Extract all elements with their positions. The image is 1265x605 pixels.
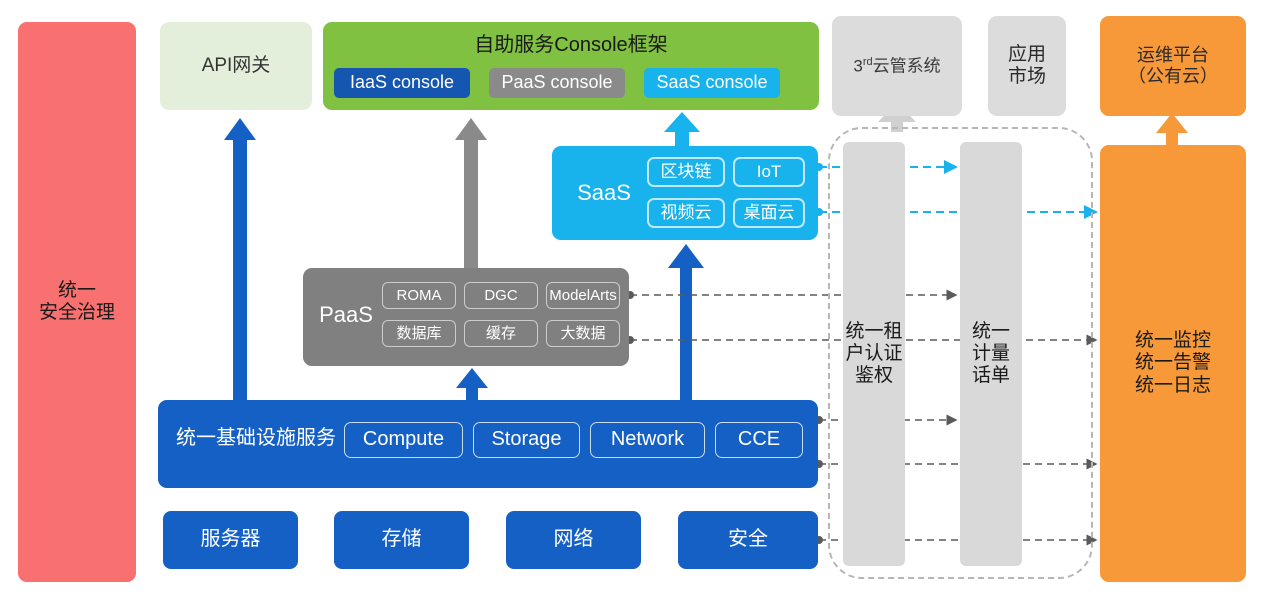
arrow-ops-panel-to-ops-platform bbox=[1156, 113, 1188, 145]
architecture-diagram: 统一 安全治理 API网关 自助服务Console框架 IaaS console… bbox=[0, 0, 1265, 605]
app-market-line1: 应用 bbox=[1008, 44, 1046, 66]
ops-platform-line2: （公有云） bbox=[1128, 66, 1218, 87]
infra-service-network[interactable]: Network bbox=[590, 422, 705, 458]
paas-service-modelarts[interactable]: ModelArts bbox=[546, 282, 620, 309]
cap-auth-line1: 统一租 bbox=[845, 321, 902, 343]
third-party-suffix: 云管系统 bbox=[873, 56, 941, 75]
cap-auth-line3: 鉴权 bbox=[845, 365, 902, 387]
security-label-line1: 统一 bbox=[39, 280, 115, 302]
infrastructure-label: 统一基础设施服务 bbox=[176, 427, 336, 451]
resource-network-box[interactable]: 网络 bbox=[506, 511, 641, 569]
cap-billing-line3: 话单 bbox=[972, 365, 1010, 387]
paas-console-chip[interactable]: PaaS console bbox=[489, 68, 625, 98]
self-service-console-framework: 自助服务Console框架 IaaS console PaaS console … bbox=[323, 22, 819, 110]
paas-service-cache[interactable]: 缓存 bbox=[464, 320, 538, 347]
arrow-infra-to-paas bbox=[456, 368, 488, 400]
arrow-paas-to-console bbox=[455, 118, 487, 268]
saas-layer-label: SaaS bbox=[566, 180, 642, 206]
unified-metering-billing-column: 统一 计量 话单 bbox=[960, 142, 1022, 566]
ops-panel-line1: 统一监控 bbox=[1135, 330, 1211, 352]
saas-console-chip[interactable]: SaaS console bbox=[644, 68, 780, 98]
saas-layer-box: SaaS 区块链 IoT 视频云 桌面云 bbox=[552, 146, 818, 240]
cap-billing-line2: 计量 bbox=[972, 343, 1010, 365]
third-party-superscript: rd bbox=[863, 56, 873, 68]
app-market-line2: 市场 bbox=[1008, 66, 1046, 88]
api-gateway-label: API网关 bbox=[202, 55, 271, 77]
arrow-infra-to-api-gateway bbox=[224, 118, 256, 400]
arrow-saas-to-console bbox=[664, 112, 700, 146]
unified-tenant-auth-column: 统一租 户认证 鉴权 bbox=[843, 142, 905, 566]
paas-service-database[interactable]: 数据库 bbox=[382, 320, 456, 347]
app-marketplace-box: 应用 市场 bbox=[988, 16, 1066, 116]
resource-storage-box[interactable]: 存储 bbox=[334, 511, 469, 569]
security-label-line2: 安全治理 bbox=[39, 302, 115, 324]
cap-billing-line1: 统一 bbox=[972, 321, 1010, 343]
ops-monitoring-panel: 统一监控 统一告警 统一日志 bbox=[1100, 145, 1246, 582]
arrow-infra-to-saas bbox=[668, 244, 704, 400]
iaas-console-chip[interactable]: IaaS console bbox=[334, 68, 470, 98]
ops-panel-line2: 统一告警 bbox=[1135, 352, 1211, 374]
ops-platform-line1: 运维平台 bbox=[1128, 45, 1218, 66]
paas-layer-box: PaaS ROMA DGC ModelArts 数据库 缓存 大数据 bbox=[303, 268, 629, 366]
paas-service-dgc[interactable]: DGC bbox=[464, 282, 538, 309]
paas-service-roma[interactable]: ROMA bbox=[382, 282, 456, 309]
unified-infrastructure-services-box: 统一基础设施服务 Compute Storage Network CCE bbox=[158, 400, 818, 488]
saas-service-desktop-cloud[interactable]: 桌面云 bbox=[733, 198, 805, 228]
paas-layer-label: PaaS bbox=[311, 302, 381, 328]
third-party-label: 3rd云管系统 bbox=[853, 56, 940, 77]
console-framework-title: 自助服务Console框架 bbox=[323, 34, 819, 58]
infra-service-compute[interactable]: Compute bbox=[344, 422, 463, 458]
saas-service-iot[interactable]: IoT bbox=[733, 157, 805, 187]
third-party-cloud-management-box: 3rd云管系统 bbox=[832, 16, 962, 116]
api-gateway-box: API网关 bbox=[160, 22, 312, 110]
resource-server-box[interactable]: 服务器 bbox=[163, 511, 298, 569]
paas-service-bigdata[interactable]: 大数据 bbox=[546, 320, 620, 347]
infra-service-cce[interactable]: CCE bbox=[715, 422, 803, 458]
saas-service-video-cloud[interactable]: 视频云 bbox=[647, 198, 725, 228]
ops-platform-box: 运维平台 （公有云） bbox=[1100, 16, 1246, 116]
unified-security-governance-panel: 统一 安全治理 bbox=[18, 22, 136, 582]
resource-security-box[interactable]: 安全 bbox=[678, 511, 818, 569]
cap-auth-line2: 户认证 bbox=[845, 343, 902, 365]
ops-panel-line3: 统一日志 bbox=[1135, 375, 1211, 397]
infra-service-storage[interactable]: Storage bbox=[473, 422, 580, 458]
third-party-prefix: 3 bbox=[853, 56, 862, 75]
saas-service-blockchain[interactable]: 区块链 bbox=[647, 157, 725, 187]
